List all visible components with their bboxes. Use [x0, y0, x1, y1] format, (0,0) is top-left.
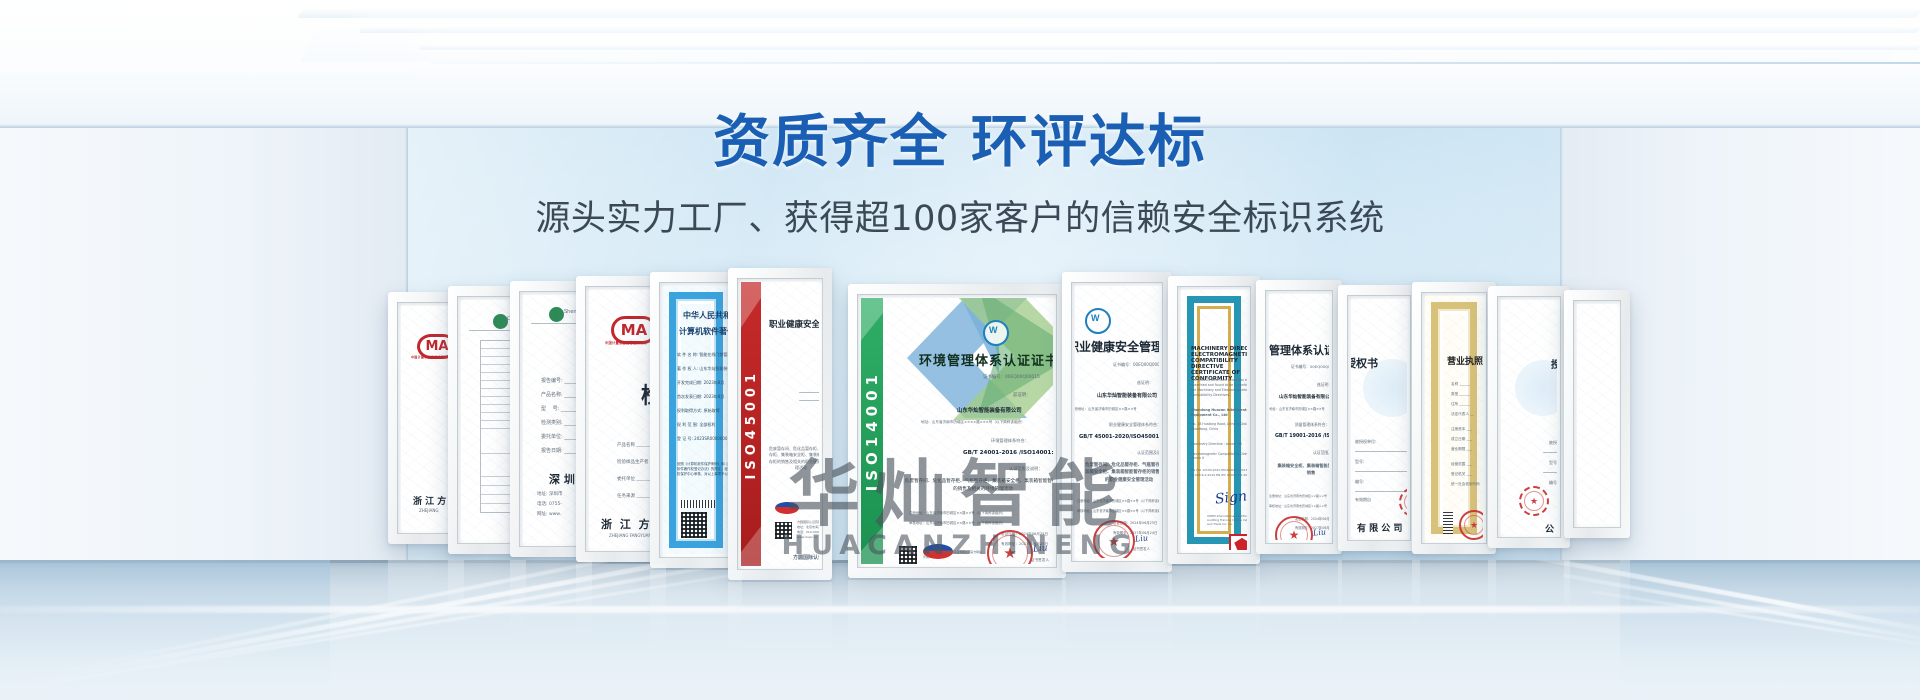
copyright-fields: 软 件 名 称: 智能在线门禁管理系统 V1.0 著 作 权 人: 山东华灿智能…	[677, 352, 729, 442]
registered-address-1: 注册地址：山东省济南市历城区××路××号（以下简称该组织）	[1077, 498, 1159, 503]
company-label: 兹证明：	[1013, 392, 1031, 398]
certificate-title: 职业健康安全管理体系认证证书	[1075, 338, 1159, 355]
license-fields: 名称 ______ 类型 ______ 住所 ______ 法定代表人 __ 注…	[1451, 382, 1480, 487]
report-fields: 产品名称 ______ 检验样品生产者 __ 委托单位 ______ 任务来源 …	[617, 442, 653, 499]
qr-code-icon	[899, 546, 917, 564]
certificate-no-value: 00EQ00Q00015	[1005, 375, 1040, 380]
official-red-seal-icon: ★	[1459, 510, 1483, 540]
ce-title-line-2: ELECTROMAGNETIC COMPATIBILITY DIRECTIVE	[1191, 352, 1247, 370]
certificate-title: 授权书	[1551, 356, 1557, 371]
scope-label: 认证范围及说明：	[1137, 450, 1159, 456]
certificate-scope: 危废暂存间、危化品暂存柜、气瓶暂存柜、集装箱安全柜、集装箱智能暂存柜的销售及相关…	[769, 446, 819, 472]
auth-field-1: 被授权单位:	[1355, 439, 1376, 445]
company-name: 山东华灿智能装备有限公司	[1279, 394, 1329, 400]
certificate-company: 公 司	[1545, 522, 1557, 534]
ce-signer-line-3: and Trade Inc. Co.	[1207, 522, 1247, 526]
qr-code-icon	[775, 522, 792, 539]
certificate-frame-9[interactable]: MACHINERY DIRECTIVE, ELECTROMAGNETIC COM…	[1168, 276, 1260, 564]
certificate-row: MA 中国计量认证检验检测机构 浙 江 方 圆 ZHEJIANG CTI	[0, 0, 1920, 700]
iso45001-spine: ISO45001	[741, 282, 761, 566]
official-red-seal-icon: ★	[1093, 520, 1135, 558]
scope-value: 集装箱安全柜、集装箱智能暂存柜的销售	[1277, 462, 1329, 476]
certificate-frame-13[interactable]: 授权书 被授权单位: 型号: 编号: ★ 公 司	[1488, 286, 1570, 548]
udem-logo-icon: UDEM	[1229, 534, 1247, 550]
lab-logo-icon	[493, 314, 508, 329]
registered-address-1: 注册地址：山东省济南市历城区××路××号（该组织）	[1269, 494, 1329, 498]
certificate-address: 地址: 深圳市	[537, 491, 562, 497]
mqsc-emblem-letter: W	[989, 325, 998, 335]
registered-address-1: 注册地址：山东省济南市历城区××路××号（以下简称该组织）	[909, 510, 1005, 515]
certificate-no-line: 证书编号：00EQ00Q00015	[1113, 362, 1159, 368]
certificate-no-line: 证书编号：00EQ00Q00015	[983, 374, 1040, 380]
ma-mark-caption: 中国计量认证检验检测机构	[411, 355, 451, 359]
company-address: 注册地址：山东省济南市历城区××路××号	[1075, 406, 1137, 411]
auth-field-2: 型号:	[1549, 460, 1557, 466]
ce-signer: UDEM International Certification Auditin…	[1207, 514, 1247, 526]
certificate-wall-banner: 资质齐全环评达标 源头实力工厂、获得超100家客户的信赖安全标识系统 MA 中国…	[0, 0, 1920, 700]
company-address: 地址：山东省济南市历城区××××路×××号（以下简称该组织）	[921, 420, 1025, 425]
ornate-border	[1187, 296, 1241, 544]
registered-address-2: 审核地址：山东省济南市历城区××路××号（以下简称该组织）	[909, 520, 1005, 525]
signature: Liu	[1313, 527, 1327, 537]
certificate-no-value: 00EQ00Q00015	[1310, 364, 1329, 369]
auth-field-3: 编号:	[1549, 480, 1557, 486]
standard-value: GB/T 24001-2016 /ISO14001:2015	[963, 450, 1053, 456]
iso45001-spine-label: ISO45001	[744, 369, 759, 479]
certificate-issuer: 方圆国际认证有限公司	[793, 554, 819, 561]
company-name: 山东华灿智能装备有限公司	[957, 406, 1022, 414]
certificate-title: 职业健康安全管理体系认证证书	[769, 318, 819, 330]
certificate-frame-6[interactable]: ISO45001 职业健康安全管理体系认证证书 危废暂存间、危化品暂存柜、气瓶暂…	[728, 268, 832, 580]
certificate-frame-11[interactable]: 授权书 被授权单位: 型号: 编号: 有效期自 ★ 有 限 公 司	[1338, 285, 1420, 551]
certificate-no-value: 00EQ00Q00015	[1133, 362, 1159, 367]
certificate-issuer-en: ZHEJIANG FANGYUAN	[609, 533, 651, 538]
certificate-title: 环境管理体系认证证书	[919, 350, 1053, 369]
signature: Liu	[1135, 533, 1149, 543]
certificate-issuer: 深 圳	[549, 471, 575, 487]
certificate-footer: 依照《计算机软件保护条例》和《计算机软件著作权登记办法》的规定，经中国版权保护中…	[677, 462, 729, 477]
certificate-subtitle: 计算机软件著作权登记证书	[679, 326, 729, 337]
standard-label: 质量管理体系符合：	[1295, 422, 1329, 428]
certificate-title: 质量管理体系认证证书	[1269, 342, 1329, 358]
certificate-phone: 电话: 0755-	[537, 501, 562, 507]
ma-mark-caption: 中国计量认证检验检测机构	[605, 340, 647, 345]
scope-label: 认证范围及说明：	[1009, 466, 1043, 472]
certificate-company: 有 限 公 司	[1357, 521, 1402, 534]
mqsc-emblem-letter: W	[1091, 313, 1100, 323]
standard-label: 职业健康安全管理体系符合：	[1109, 422, 1159, 428]
signature: Sign	[1214, 488, 1247, 507]
signature-label: 证书签发人	[1133, 546, 1150, 551]
certificate-frame-10[interactable]: 质量管理体系认证证书 证书编号：00EQ00Q00015 兹证明： 山东华灿智能…	[1256, 280, 1342, 554]
report-field-table	[480, 340, 513, 513]
auth-field-1: 被授权单位:	[1549, 440, 1557, 446]
standard-value: GB/T 45001-2020/ISO45001:2018	[1079, 434, 1159, 440]
certificate-title: 授权书	[1351, 355, 1378, 371]
certificate-frame-12[interactable]: 营业执照 名称 ______ 类型 ______ 住所 ______ 法定代表人…	[1412, 282, 1496, 554]
auth-field-2: 型号:	[1355, 459, 1364, 465]
certificate-no-label: 证书编号：	[1291, 364, 1310, 369]
scope-value: 危废暂存间、危化品暂存柜、气瓶暂存柜、集装箱安全柜、集装箱智能暂存柜的销售及相关…	[903, 478, 1053, 494]
certificate-no-label: 证书编号：	[1113, 362, 1133, 367]
ce-address: No. 28 Huatong Road, Licheng District, J…	[1191, 422, 1247, 432]
company-label: 兹证明：	[1137, 380, 1153, 386]
company-name: 山东华灿智能装备有限公司	[1097, 392, 1157, 399]
barcode-icon	[1443, 512, 1453, 534]
issuer-footnote: 本证书信息可在方圆国际认证有限公司官方网站查询。	[923, 550, 983, 560]
ce-title: MACHINERY DIRECTIVE, ELECTROMAGNETIC COM…	[1191, 346, 1247, 382]
certificate-frame-8[interactable]: W 职业健康安全管理体系认证证书 证书编号：00EQ00Q00015 兹证明： …	[1062, 272, 1172, 572]
ce-standards: EN ISO 12100:2010 EN 60204-1:2018 EN IEC…	[1191, 468, 1247, 478]
cnas-accreditation-icon	[775, 502, 799, 514]
certificate-title: 中华人民共和国	[683, 310, 729, 321]
lab-logo-icon	[549, 307, 564, 322]
certificate-no-line: 证书编号：00EQ00Q00015	[1291, 364, 1329, 370]
iso14001-spine: ISO14001	[861, 298, 883, 564]
issuer-contact: 方圆国际认证有限公司地址：北京市海淀区电话：010-00000000www.mq…	[797, 520, 819, 540]
auth-field-4: 有效期自	[1355, 497, 1371, 503]
company-address: 注册地址：山东省济南市历城区××路××号	[1269, 406, 1325, 411]
certificate-title: 营业执照	[1447, 354, 1483, 367]
registered-address-2: 审核地址：山东省济南市历城区××路××号（以下简称该组织）	[1077, 508, 1159, 513]
certificate-no-label: 证书编号：	[983, 375, 1005, 380]
certificate-issuer: 浙 江 方 圆 检	[601, 516, 653, 532]
auth-field-3: 编号:	[1355, 479, 1364, 485]
ce-body: The product described below has been exa…	[1191, 378, 1247, 399]
standard-label: 环境管理体系符合：	[991, 438, 1029, 444]
registered-address-2: 审核地址：山东省济南市历城区××路××号（该组织）	[1269, 504, 1329, 508]
ce-company: Shandong Huacan Intelligent Equipment Co…	[1191, 408, 1247, 418]
ce-annex-1: Machinery Directive : Annex VIII	[1191, 442, 1247, 446]
scope-value: 危废暂存间、危化品暂存柜、气瓶暂存柜、集装箱安全柜、集装箱智能暂存柜的销售及相关…	[1085, 462, 1159, 484]
certificate-frame-7[interactable]: ISO14001 W 环境管理体系认证证书 证书编号：00EQ00Q00015 …	[848, 284, 1066, 578]
certificate-frame-14[interactable]	[1564, 290, 1630, 538]
signature: Liu	[1033, 543, 1049, 554]
certificate-issuer: 浙 江 方 圆	[413, 494, 451, 507]
certificate-issuer-en: ZHEJIANG	[419, 508, 438, 513]
scope-label: 认证范围及说明：	[1313, 450, 1329, 456]
ce-annex-2: Electromagnetic Compatibility Directive …	[1191, 452, 1247, 460]
iso14001-spine-label: ISO14001	[863, 370, 881, 491]
standard-value: GB/T 19001-2016 /ISO9001:2015	[1275, 434, 1329, 439]
signature-label: 证书签发人	[1031, 558, 1049, 563]
certificate-website: 网址: www.	[537, 511, 561, 517]
qr-code-icon	[681, 512, 707, 538]
company-label: 兹证明：	[1317, 382, 1329, 388]
report-fields: 报告编号: _______ 产品名称: _______ 型 号: _______…	[541, 377, 579, 454]
barcode-icon	[681, 500, 715, 508]
official-red-seal-icon: ★	[1519, 486, 1549, 516]
